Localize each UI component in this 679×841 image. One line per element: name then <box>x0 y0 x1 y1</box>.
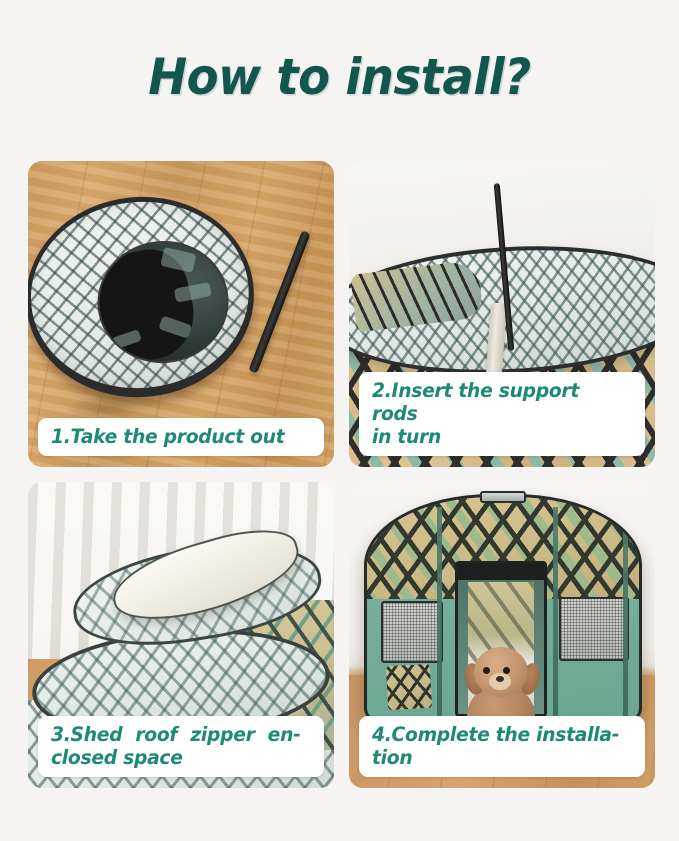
panel-seam <box>437 507 442 719</box>
steps-grid: 1.Take the product out 2.Insert the supp… <box>28 161 655 787</box>
carry-handle <box>480 491 526 503</box>
step-3-caption-line-2: closed space <box>51 746 301 769</box>
step-panel-2: 2.Insert the support rodsin turn <box>349 161 655 467</box>
step-2-caption-text: 2.Insert the support rodsin turn <box>372 379 622 448</box>
step-3-caption-line-1: 3.Shed roof zipper en- <box>51 723 301 746</box>
step-3-caption: 3.Shed roof zipper en-closed space <box>38 716 324 777</box>
step-4-caption: 4.Complete the installa-tion <box>359 716 645 777</box>
storage-pocket <box>386 664 432 710</box>
step-4-caption-line-2: tion <box>372 746 412 769</box>
step-1-caption-text: 1.Take the product out <box>51 425 301 448</box>
step-4-caption-text: 4.Complete the installa-tion <box>372 723 622 769</box>
step-2-caption: 2.Insert the support rodsin turn <box>359 372 645 456</box>
mesh-window <box>381 601 443 663</box>
step-panel-3: 3.Shed roof zipper en-closed space <box>28 482 334 788</box>
step-1-caption: 1.Take the product out <box>38 418 324 456</box>
dog-eye-left <box>483 667 490 674</box>
step-4-caption-line-1: 4.Complete the installa- <box>372 723 619 746</box>
dog-nose <box>496 676 504 682</box>
panel-seam <box>623 507 628 719</box>
folded-tent <box>28 187 262 406</box>
playpen-body <box>364 494 642 732</box>
mesh-window <box>559 597 629 661</box>
door-header-strip <box>458 564 544 580</box>
step-3-caption-text: 3.Shed roof zipper en-closed space <box>51 723 301 769</box>
step-panel-1: 1.Take the product out <box>28 161 334 467</box>
page-title: How to install? <box>24 46 655 108</box>
panel-seam <box>553 507 558 719</box>
step-2-caption-line-2: in turn <box>372 425 441 448</box>
step-panel-4: 4.Complete the installa-tion <box>349 482 655 788</box>
step-2-caption-line-1: 2.Insert the support rods <box>372 379 579 425</box>
assembled-playpen <box>364 494 642 732</box>
